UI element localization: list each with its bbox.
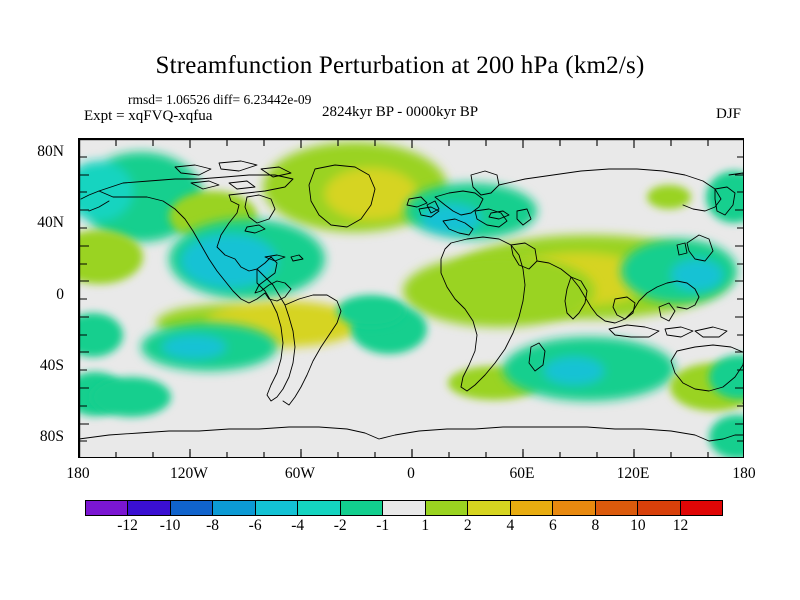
season-label: DJF <box>716 106 741 123</box>
colorbar-swatch-10 <box>510 501 552 515</box>
y-axis-label-40s: 40S <box>6 358 64 374</box>
colorbar-swatch-0 <box>86 501 127 515</box>
colorbar-swatch-7 <box>382 501 424 515</box>
colorbar-swatches <box>85 500 723 516</box>
x-axis-label-60w: 60W <box>260 466 340 482</box>
colorbar-swatch-11 <box>552 501 594 515</box>
colorbar-swatch-2 <box>170 501 212 515</box>
colorbar-swatch-13 <box>637 501 679 515</box>
y-axis-label-0: 0 <box>6 287 64 303</box>
experiment-label: Expt = xqFVQ-xqfua <box>84 108 212 125</box>
colorbar-tick-12: 12 <box>654 518 706 534</box>
colorbar-tick-labels: -12-10-8-6-4-2-1124681012 <box>85 518 723 538</box>
x-axis-label-180e: 180 <box>704 466 784 482</box>
colorbar-swatch-14 <box>680 501 722 515</box>
y-axis-label-40n: 40N <box>6 215 64 231</box>
period-annotation: 2824kyr BP - 0000kyr BP <box>322 104 478 121</box>
colorbar-swatch-1 <box>127 501 169 515</box>
figure-title: Streamfunction Perturbation at 200 hPa (… <box>0 52 800 80</box>
colorbar <box>85 500 723 516</box>
colorbar-swatch-8 <box>425 501 467 515</box>
colorbar-swatch-12 <box>595 501 637 515</box>
colorbar-swatch-4 <box>255 501 297 515</box>
colorbar-swatch-5 <box>297 501 339 515</box>
x-axis-label-60e: 60E <box>482 466 562 482</box>
colorbar-swatch-6 <box>340 501 382 515</box>
y-axis-label-80s: 80S <box>6 429 64 445</box>
map-canvas <box>79 139 744 458</box>
streamfunction-figure: Streamfunction Perturbation at 200 hPa (… <box>0 0 800 600</box>
x-axis-label-120e: 120E <box>593 466 673 482</box>
colorbar-swatch-3 <box>212 501 254 515</box>
rmsd-annotation: rmsd= 1.06526 diff= 6.23442e-09 <box>128 92 311 108</box>
x-axis-label-180w: 180 <box>38 466 118 482</box>
x-axis-label-0: 0 <box>371 466 451 482</box>
colorbar-swatch-9 <box>467 501 509 515</box>
y-axis-label-80n: 80N <box>6 144 64 160</box>
map-plot-area <box>78 138 744 458</box>
x-axis-label-120w: 120W <box>149 466 229 482</box>
